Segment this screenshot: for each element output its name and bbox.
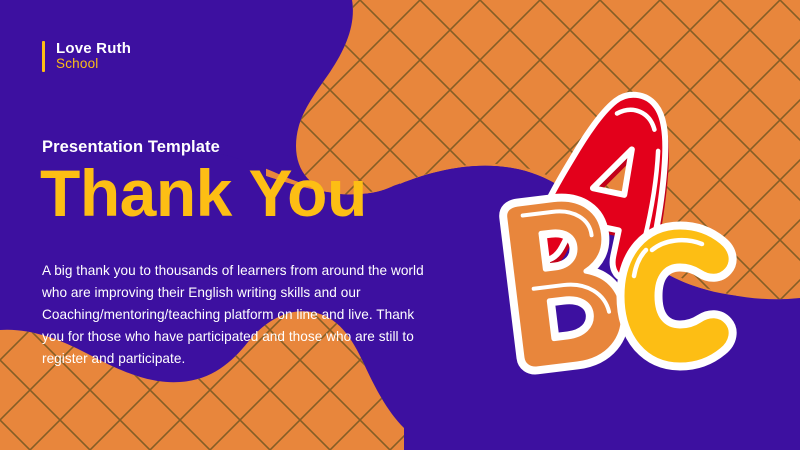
presentation-slide: Love Ruth School Presentation Template T… — [0, 0, 800, 450]
brand-logo: Love Ruth School — [42, 41, 131, 72]
body-paragraph: A big thank you to thousands of learners… — [42, 260, 434, 370]
page-title: Thank You — [40, 160, 367, 226]
logo-text-group: Love Ruth School — [56, 41, 131, 72]
eyebrow-label: Presentation Template — [42, 138, 220, 157]
logo-subtitle: School — [56, 57, 131, 72]
logo-name: Love Ruth — [56, 41, 131, 57]
logo-accent-bar — [42, 41, 45, 72]
